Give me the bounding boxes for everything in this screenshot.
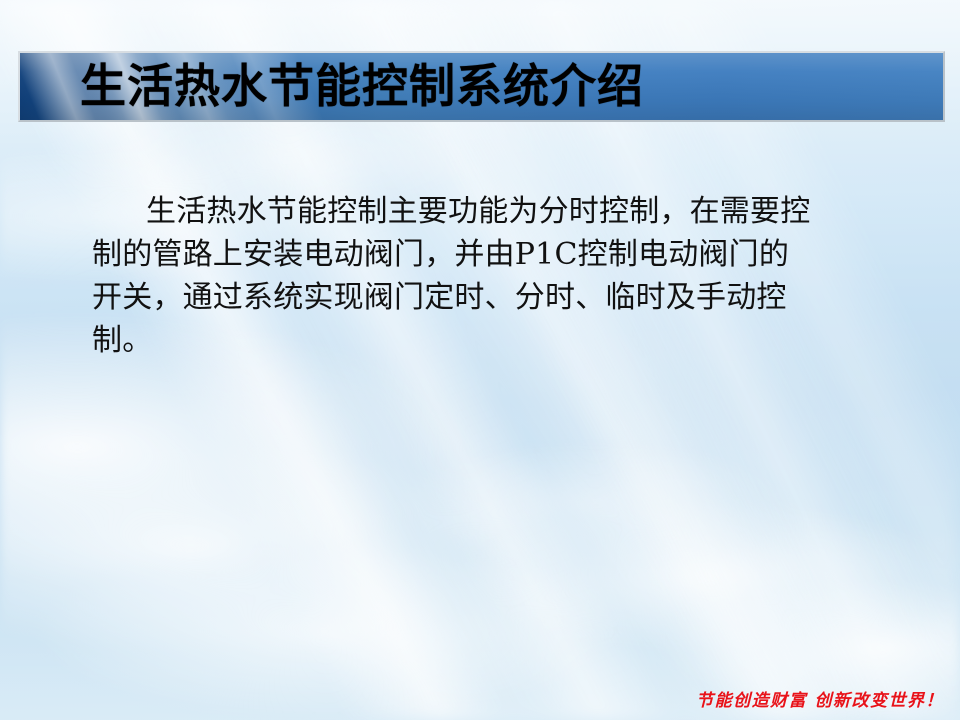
- title-banner: 生活热水节能控制系统介绍: [18, 51, 945, 122]
- footer-slogan: 节能创造财富 创新改变世界！: [696, 690, 944, 712]
- slide-canvas: 生活热水节能控制系统介绍 生活热水节能控制主要功能为分时控制，在需要控制的管路上…: [0, 0, 960, 720]
- slide-title: 生活热水节能控制系统介绍: [80, 63, 644, 109]
- slide-body-paragraph: 生活热水节能控制主要功能为分时控制，在需要控制的管路上安装电动阀门，并由P1C控…: [92, 190, 812, 362]
